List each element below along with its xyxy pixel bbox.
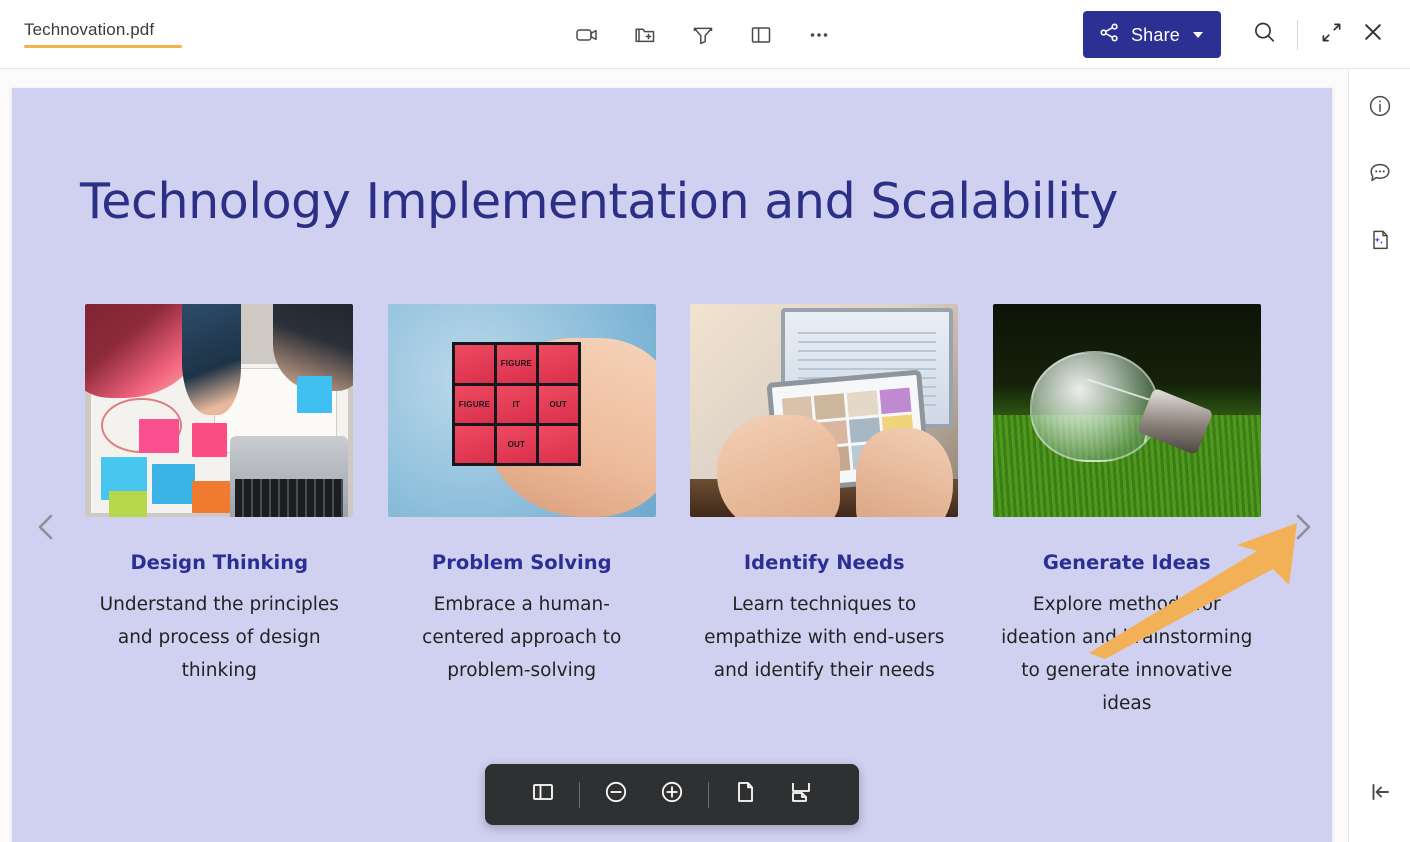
- right-tool-group: Share: [1083, 0, 1394, 69]
- zoom-in-icon: [658, 778, 686, 811]
- cube-cell: IT: [497, 386, 536, 423]
- photo-shape: [192, 481, 230, 513]
- zoom-in-button[interactable]: [652, 775, 692, 815]
- more-options-icon-button[interactable]: [802, 18, 836, 52]
- fit-width-button[interactable]: [781, 775, 821, 815]
- photo-shape: [152, 464, 195, 504]
- photo-shape: [879, 388, 911, 414]
- video-camera-icon-button[interactable]: [570, 18, 604, 52]
- previous-page-button[interactable]: [20, 502, 74, 556]
- fit-width-icon: [788, 779, 814, 810]
- split-view-icon: [748, 22, 774, 48]
- feature-card: FIGURE FIGURE IT OUT OUT Problem Solving…: [371, 304, 674, 720]
- feature-card: Identify Needs Learn techniques to empat…: [673, 304, 976, 720]
- info-circle-icon: [1367, 93, 1393, 124]
- title-underline: [24, 45, 182, 48]
- cube-cell: OUT: [539, 386, 578, 423]
- pdf-viewer-canvas[interactable]: Technology Implementation and Scalabilit…: [0, 69, 1348, 842]
- top-toolbar: Technovation.pdf: [0, 0, 1410, 69]
- photo-shape: [297, 376, 332, 412]
- search-icon: [1251, 19, 1278, 51]
- highlighter-icon-button[interactable]: [686, 18, 720, 52]
- photo-shape: [192, 423, 227, 457]
- feature-card-row: Design Thinking Understand the principle…: [68, 304, 1278, 720]
- toolbar-divider: [708, 782, 709, 808]
- card-heading: Problem Solving: [432, 551, 612, 574]
- highlighter-icon: [690, 22, 716, 48]
- cube-cell: [539, 426, 578, 463]
- lightbulb-in-grass-photo: [993, 304, 1261, 517]
- right-sidebar: [1348, 69, 1410, 842]
- card-heading: Generate Ideas: [1043, 551, 1211, 574]
- more-options-icon: [806, 22, 832, 48]
- document-details-button[interactable]: [1360, 88, 1400, 128]
- cube-cell: OUT: [497, 426, 536, 463]
- zoom-out-button[interactable]: [596, 775, 636, 815]
- photo-shape: [847, 391, 879, 417]
- toolbar-divider: [1297, 20, 1298, 50]
- document-title: Technovation.pdf: [24, 19, 154, 41]
- share-button[interactable]: Share: [1083, 11, 1221, 58]
- toolbar-divider: [579, 782, 580, 808]
- share-nodes-icon: [1099, 22, 1120, 48]
- card-body: Understand the principles and process of…: [90, 588, 348, 687]
- sidebar-toggle-button[interactable]: [523, 775, 563, 815]
- single-page-button[interactable]: [725, 775, 765, 815]
- next-page-button[interactable]: [1275, 502, 1329, 556]
- cube-cell: [455, 426, 494, 463]
- pdf-page: Technology Implementation and Scalabilit…: [12, 88, 1332, 842]
- figure-it-out-cube-photo: FIGURE FIGURE IT OUT OUT: [388, 304, 656, 517]
- search-button[interactable]: [1243, 14, 1285, 56]
- pdf-viewer-app: Technovation.pdf: [0, 0, 1410, 842]
- photo-shape: [139, 419, 179, 453]
- photo-shape: [814, 394, 846, 420]
- tablet-browsing-photo: [690, 304, 958, 517]
- document-title-block[interactable]: Technovation.pdf: [24, 19, 182, 48]
- split-view-icon-button[interactable]: [744, 18, 778, 52]
- photo-shape: [235, 479, 342, 517]
- slide-title: Technology Implementation and Scalabilit…: [80, 173, 1118, 230]
- photo-shape: [717, 415, 840, 517]
- close-icon: [1360, 19, 1386, 50]
- feature-card: Design Thinking Understand the principle…: [68, 304, 371, 720]
- card-heading: Identify Needs: [744, 551, 905, 574]
- photo-shape: [182, 304, 241, 415]
- comments-button[interactable]: [1360, 155, 1400, 195]
- feature-card: Generate Ideas Explore methods for ideat…: [976, 304, 1279, 720]
- slide-title-text: Technology Implementation and Scalabilit…: [80, 173, 1118, 230]
- cube-cell: [539, 345, 578, 382]
- card-body: Explore methods for ideation and brainst…: [998, 588, 1256, 720]
- photo-shape: [856, 428, 952, 517]
- card-body: Embrace a human-centered approach to pro…: [393, 588, 651, 687]
- chevron-left-icon: [30, 510, 64, 549]
- video-camera-icon: [574, 22, 600, 48]
- ai-document-icon: [1367, 227, 1393, 258]
- card-heading: Design Thinking: [130, 551, 308, 574]
- cube-grid: FIGURE FIGURE IT OUT OUT: [452, 342, 581, 466]
- photo-shape: [109, 491, 147, 517]
- expand-icon: [1319, 20, 1344, 50]
- comment-bubble-icon: [1367, 160, 1393, 191]
- cube-cell: [455, 345, 494, 382]
- single-page-icon: [732, 779, 758, 810]
- close-button[interactable]: [1352, 14, 1394, 56]
- ai-summary-button[interactable]: [1360, 222, 1400, 262]
- center-tool-group: [570, 0, 836, 69]
- share-label: Share: [1131, 26, 1180, 44]
- add-folder-icon-button[interactable]: [628, 18, 662, 52]
- sidebar-toggle-icon: [530, 779, 556, 810]
- zoom-out-icon: [602, 778, 630, 811]
- floating-page-toolbar: [485, 764, 859, 825]
- design-workshop-photo: [85, 304, 353, 517]
- add-folder-icon: [632, 22, 658, 48]
- expand-button[interactable]: [1310, 14, 1352, 56]
- collapse-panel-icon: [1367, 779, 1393, 810]
- cube-cell: FIGURE: [455, 386, 494, 423]
- collapse-panel-button[interactable]: [1360, 774, 1400, 814]
- card-body: Learn techniques to empathize with end-u…: [695, 588, 953, 687]
- cube-cell: FIGURE: [497, 345, 536, 382]
- chevron-right-icon: [1285, 510, 1319, 549]
- chevron-down-icon: [1193, 32, 1203, 38]
